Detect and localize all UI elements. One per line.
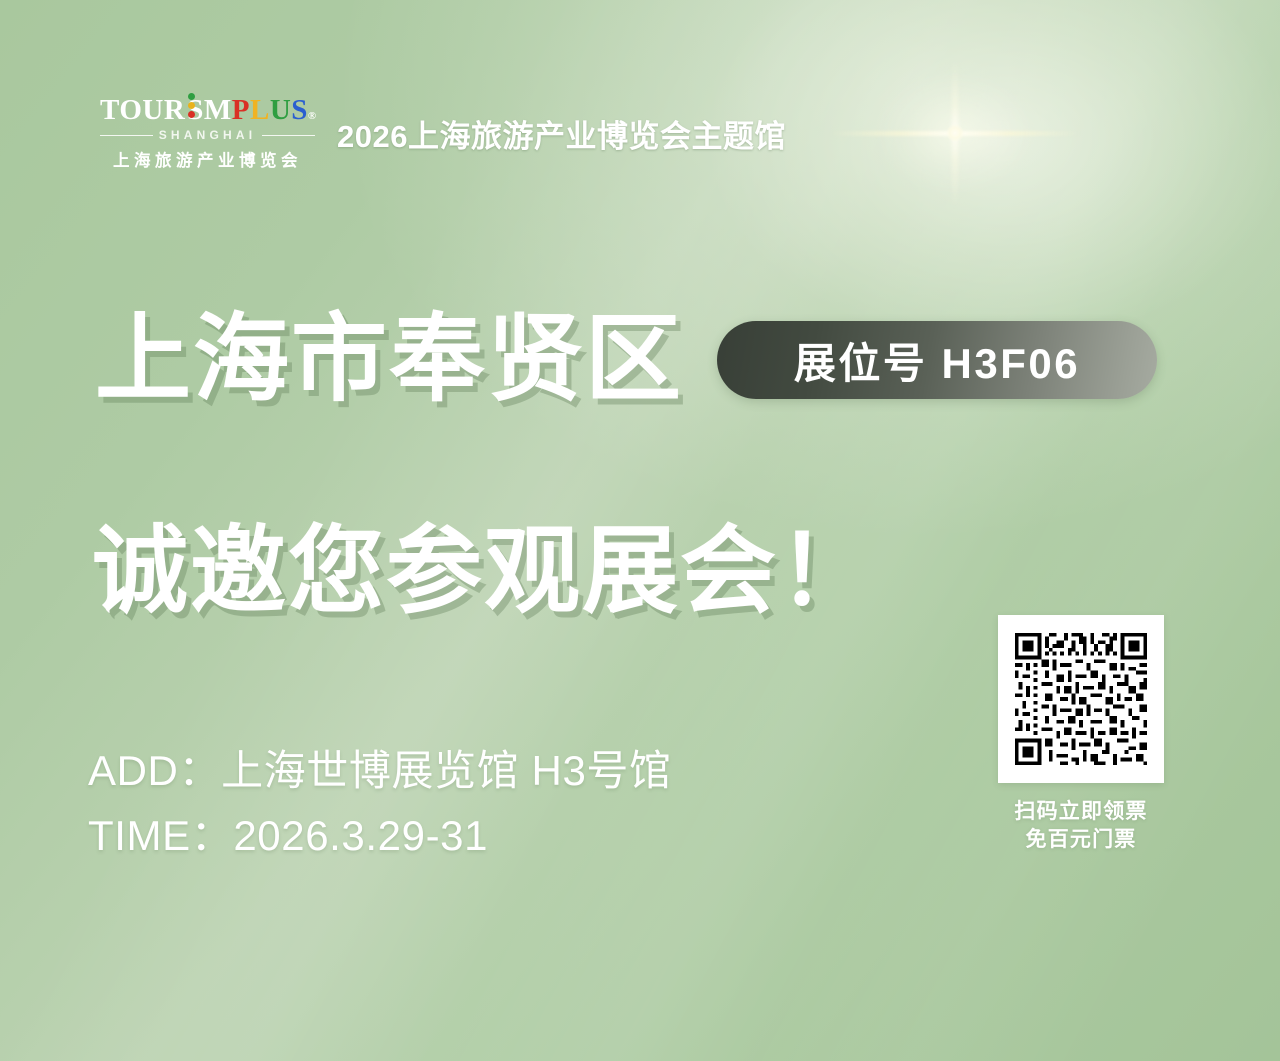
booth-number-label: 展位号 H3F06 xyxy=(794,330,1080,391)
logo-city-row: SHANGHAI xyxy=(100,128,315,142)
poster-canvas: TOUR SM P L U S ® SHANGHAI 上海旅游产业博览会 xyxy=(0,0,1280,1061)
event-address: ADD：上海世博展览馆 H3号馆 xyxy=(88,738,672,803)
event-time: TIME：2026.3.29-31 xyxy=(88,803,672,868)
event-info: ADD：上海世博展览馆 H3号馆 TIME：2026.3.29-31 xyxy=(88,738,672,868)
logo-word-tour: TOUR xyxy=(100,96,185,125)
logo-letter-s: S xyxy=(291,96,308,125)
booth-number-badge: 展位号 H3F06 xyxy=(717,321,1157,399)
brand-logo: TOUR SM P L U S ® SHANGHAI 上海旅游产业博览会 xyxy=(100,96,315,171)
registered-trademark-icon: ® xyxy=(308,111,317,122)
flare-vertical-beam xyxy=(952,59,958,207)
flare-core xyxy=(946,124,964,142)
header: TOUR SM P L U S ® SHANGHAI 上海旅游产业博览会 xyxy=(100,96,786,171)
hero-title-line1: 上海市奉贤区 xyxy=(95,312,683,408)
logo-letter-u: U xyxy=(270,96,291,125)
qr-code-panel[interactable] xyxy=(998,615,1164,783)
logo-letter-l: L xyxy=(250,96,270,125)
logo-wordmark: TOUR SM P L U S ® xyxy=(100,96,315,125)
logo-rule-left xyxy=(100,135,153,136)
flare-glow xyxy=(875,71,1035,195)
logo-letter-p: P xyxy=(232,96,250,125)
qr-caption-line2: 免百元门票 xyxy=(998,826,1164,854)
hero-title-line2: 诚邀您参观展会！ xyxy=(92,524,876,620)
qr-caption-line1: 扫码立即领票 xyxy=(998,798,1164,826)
qr-block[interactable]: 扫码立即领票 免百元门票 xyxy=(998,615,1164,853)
hero-row: 上海市奉贤区 展位号 H3F06 xyxy=(95,312,1157,408)
header-title: 2026上海旅游产业博览会主题馆 xyxy=(337,111,786,156)
logo-city-label: SHANGHAI xyxy=(159,128,257,142)
flare-horizontal-beam xyxy=(830,131,1080,136)
logo-word-sm: SM xyxy=(187,96,232,125)
logo-chinese-name: 上海旅游产业博览会 xyxy=(100,147,315,171)
qr-code-icon xyxy=(1011,629,1151,769)
qr-caption: 扫码立即领票 免百元门票 xyxy=(998,798,1164,853)
logo-rule-right xyxy=(262,135,315,136)
